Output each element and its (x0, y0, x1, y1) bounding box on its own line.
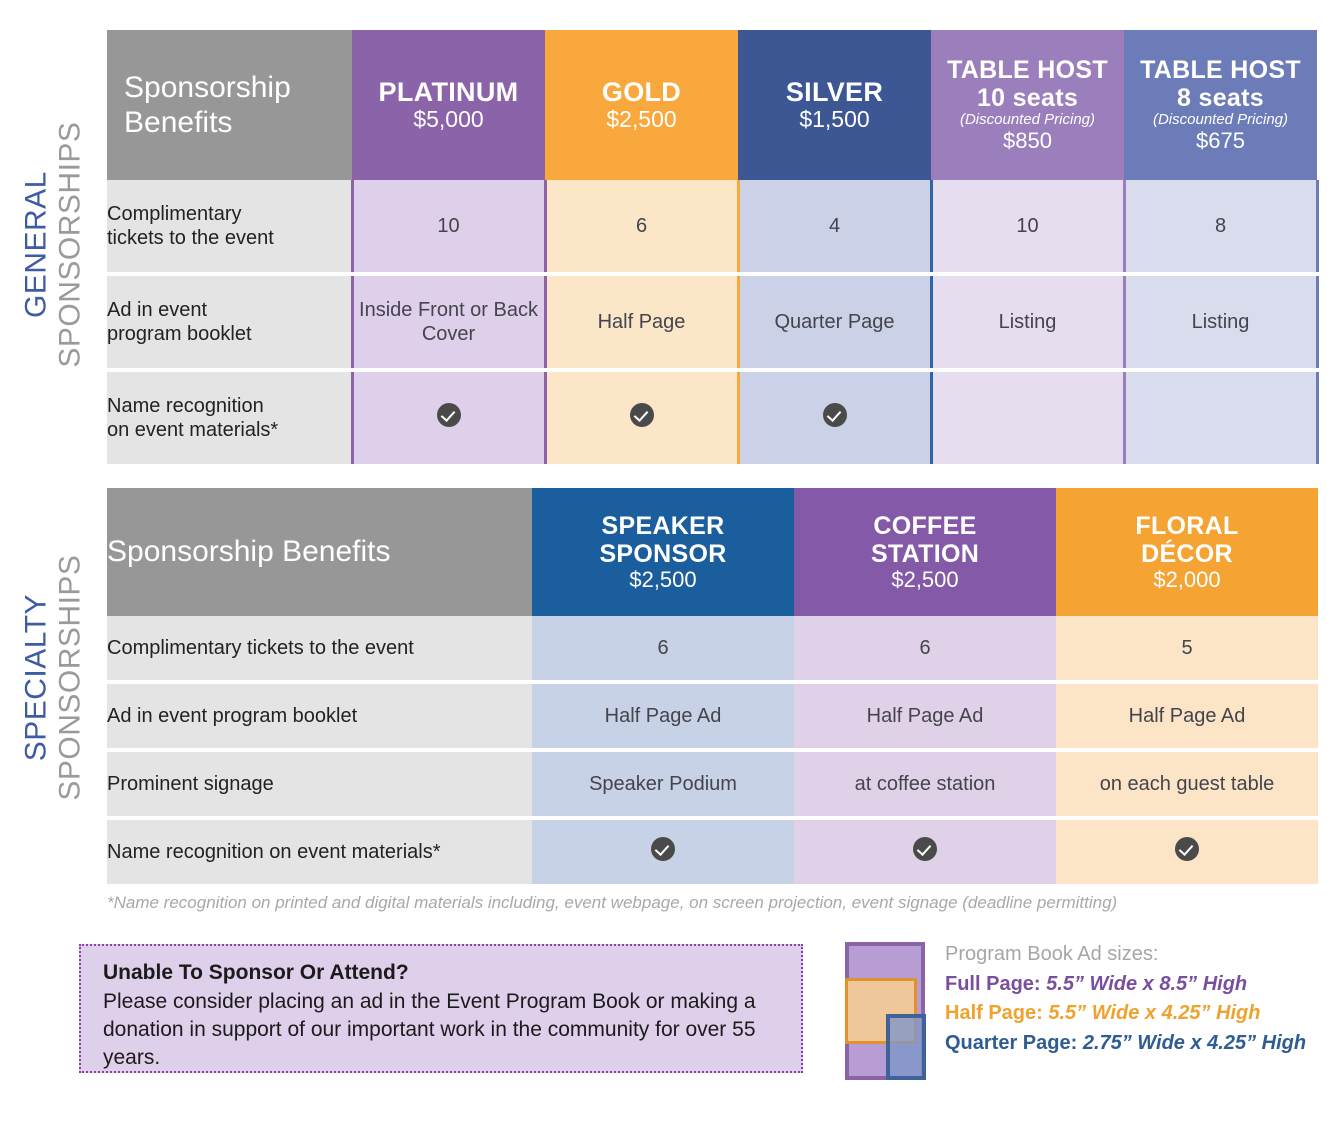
cell-table-host-8-tickets: 8 (1124, 180, 1317, 274)
table-row: Prominent signage Speaker Podium at coff… (107, 750, 1318, 818)
coffee-tier-name-line1: COFFEE (794, 512, 1056, 540)
cell-silver-ad: Quarter Page (738, 274, 931, 370)
legend-quarter-page-row: Quarter Page: 2.75” Wide x 4.25” High (945, 1029, 1306, 1059)
cell-table-host-10-name-recognition (931, 370, 1124, 464)
cell-floral-name-recognition (1056, 818, 1318, 884)
column-header-coffee-station: COFFEE STATION $2,500 (794, 488, 1056, 616)
section-label-specialty-line1: SPECIALTY (19, 555, 53, 801)
legend-quarter-page-size: 2.75” Wide x 4.25” High (1083, 1032, 1306, 1054)
table-row: Complimentary tickets to the event 6 6 5 (107, 616, 1318, 682)
program-book-ad-sizes-legend: Program Book Ad sizes: Full Page: 5.5” W… (845, 942, 1315, 1082)
cell-gold-name-recognition (545, 370, 738, 464)
row-label-complimentary-tickets: Complimentary tickets to the event (107, 180, 352, 274)
row-label-line2: on event materials* (107, 418, 351, 442)
cell-speaker-signage: Speaker Podium (532, 750, 794, 818)
cell-table-host-10-ad: Listing (931, 274, 1124, 370)
legend-full-page-row: Full Page: 5.5” Wide x 8.5” High (945, 970, 1306, 1000)
section-label-general-line2: SPONSORSHIPS (53, 122, 87, 368)
table-host-10-note: (Discounted Pricing) (931, 112, 1124, 129)
cell-speaker-name-recognition (532, 818, 794, 884)
cell-speaker-tickets: 6 (532, 616, 794, 682)
row-label-ad-in-booklet: Ad in event program booklet (107, 682, 532, 750)
general-benefits-header: Sponsorship Benefits (107, 30, 352, 180)
cell-platinum-tickets: 10 (352, 180, 545, 274)
table-host-10-price: $850 (931, 129, 1124, 154)
cell-gold-tickets: 6 (545, 180, 738, 274)
cell-silver-tickets: 4 (738, 180, 931, 274)
general-table-header-row: Sponsorship Benefits PLATINUM $5,000 GOL… (107, 30, 1317, 180)
table-row: Ad in event program booklet Half Page Ad… (107, 682, 1318, 750)
silver-price: $1,500 (738, 107, 931, 133)
section-label-specialty-line2: SPONSORSHIPS (53, 555, 87, 801)
silver-tier-name: SILVER (738, 77, 931, 107)
gold-price: $2,500 (545, 107, 738, 133)
row-label-line1: Complimentary (107, 202, 351, 226)
general-sponsorships-table: Sponsorship Benefits PLATINUM $5,000 GOL… (107, 30, 1319, 464)
speaker-price: $2,500 (532, 568, 794, 593)
legend-text-block: Program Book Ad sizes: Full Page: 5.5” W… (945, 940, 1306, 1058)
row-label-line2: program booklet (107, 322, 351, 346)
gold-tier-name: GOLD (545, 77, 738, 107)
table-row: Name recognition on event materials* (107, 370, 1317, 464)
row-label-line1: Name recognition (107, 394, 351, 418)
table-row: Ad in event program booklet Inside Front… (107, 274, 1317, 370)
column-header-gold: GOLD $2,500 (545, 30, 738, 180)
table-row: Complimentary tickets to the event 10 6 … (107, 180, 1317, 274)
cell-silver-name-recognition (738, 370, 931, 464)
cell-coffee-ad: Half Page Ad (794, 682, 1056, 750)
column-header-platinum: PLATINUM $5,000 (352, 30, 545, 180)
column-header-speaker-sponsor: SPEAKER SPONSOR $2,500 (532, 488, 794, 616)
cell-platinum-ad: Inside Front or Back Cover (352, 274, 545, 370)
platinum-price: $5,000 (352, 107, 545, 133)
quarter-page-rect-icon (886, 1014, 926, 1080)
cell-table-host-10-tickets: 10 (931, 180, 1124, 274)
row-label-name-recognition: Name recognition on event materials* (107, 818, 532, 884)
cell-floral-signage: on each guest table (1056, 750, 1318, 818)
table-host-10-seats: 10 seats (931, 84, 1124, 112)
column-header-floral-decor: FLORAL DÉCOR $2,000 (1056, 488, 1318, 616)
column-header-table-host-8: TABLE HOST 8 seats (Discounted Pricing) … (1124, 30, 1317, 180)
callout-title: Unable To Sponsor Or Attend? (103, 960, 781, 987)
cell-coffee-tickets: 6 (794, 616, 1056, 682)
legend-half-page-name: Half Page: (945, 1002, 1043, 1024)
check-icon (913, 837, 937, 861)
platinum-tier-name: PLATINUM (352, 77, 545, 107)
check-icon (630, 403, 654, 427)
table-host-8-seats: 8 seats (1124, 84, 1317, 112)
legend-full-page-name: Full Page: (945, 973, 1041, 995)
section-label-general: GENERAL SPONSORSHIPS (0, 30, 106, 460)
footnote-text: *Name recognition on printed and digital… (107, 893, 1117, 913)
check-icon (1175, 837, 1199, 861)
callout-body: Please consider placing an ad in the Eve… (103, 988, 781, 1072)
legend-full-page-size: 5.5” Wide x 8.5” High (1046, 973, 1247, 995)
cell-coffee-name-recognition (794, 818, 1056, 884)
row-label-prominent-signage: Prominent signage (107, 750, 532, 818)
cell-platinum-name-recognition (352, 370, 545, 464)
section-label-specialty-text: SPECIALTY SPONSORSHIPS (19, 555, 86, 801)
legend-half-page-size: 5.5” Wide x 4.25” High (1048, 1002, 1260, 1024)
cell-coffee-signage: at coffee station (794, 750, 1056, 818)
column-header-silver: SILVER $1,500 (738, 30, 931, 180)
table-host-8-note: (Discounted Pricing) (1124, 112, 1317, 129)
section-label-general-text: GENERAL SPONSORSHIPS (19, 122, 86, 368)
cell-floral-tickets: 5 (1056, 616, 1318, 682)
ad-size-diagram (845, 942, 925, 1080)
cell-gold-ad: Half Page (545, 274, 738, 370)
floral-tier-name-line1: FLORAL (1056, 512, 1318, 540)
section-label-general-line1: GENERAL (19, 122, 53, 368)
row-label-name-recognition: Name recognition on event materials* (107, 370, 352, 464)
floral-price: $2,000 (1056, 568, 1318, 593)
row-label-line2: tickets to the event (107, 226, 351, 250)
legend-quarter-page-name: Quarter Page: (945, 1032, 1077, 1054)
floral-tier-name-line2: DÉCOR (1056, 540, 1318, 568)
coffee-price: $2,500 (794, 568, 1056, 593)
check-icon (823, 403, 847, 427)
row-label-line1: Ad in event (107, 298, 351, 322)
speaker-tier-name-line1: SPEAKER (532, 512, 794, 540)
coffee-tier-name-line2: STATION (794, 540, 1056, 568)
specialty-benefits-header: Sponsorship Benefits (107, 488, 532, 616)
row-label-ad-in-booklet: Ad in event program booklet (107, 274, 352, 370)
table-row: Name recognition on event materials* (107, 818, 1318, 884)
cell-floral-ad: Half Page Ad (1056, 682, 1318, 750)
specialty-sponsorships-table: Sponsorship Benefits SPEAKER SPONSOR $2,… (107, 488, 1318, 884)
check-icon (437, 403, 461, 427)
speaker-tier-name-line2: SPONSOR (532, 540, 794, 568)
check-icon (651, 837, 675, 861)
table-host-8-price: $675 (1124, 129, 1317, 154)
section-label-specialty: SPECIALTY SPONSORSHIPS (0, 488, 106, 868)
cell-table-host-8-name-recognition (1124, 370, 1317, 464)
legend-title: Program Book Ad sizes: (945, 940, 1306, 970)
specialty-table-header-row: Sponsorship Benefits SPEAKER SPONSOR $2,… (107, 488, 1318, 616)
table-host-8-tier-name: TABLE HOST (1124, 56, 1317, 84)
legend-half-page-row: Half Page: 5.5” Wide x 4.25” High (945, 999, 1306, 1029)
row-label-complimentary-tickets: Complimentary tickets to the event (107, 616, 532, 682)
cell-table-host-8-ad: Listing (1124, 274, 1317, 370)
table-host-10-tier-name: TABLE HOST (931, 56, 1124, 84)
cell-speaker-ad: Half Page Ad (532, 682, 794, 750)
unable-to-sponsor-callout: Unable To Sponsor Or Attend? Please cons… (79, 944, 803, 1073)
column-header-table-host-10: TABLE HOST 10 seats (Discounted Pricing)… (931, 30, 1124, 180)
